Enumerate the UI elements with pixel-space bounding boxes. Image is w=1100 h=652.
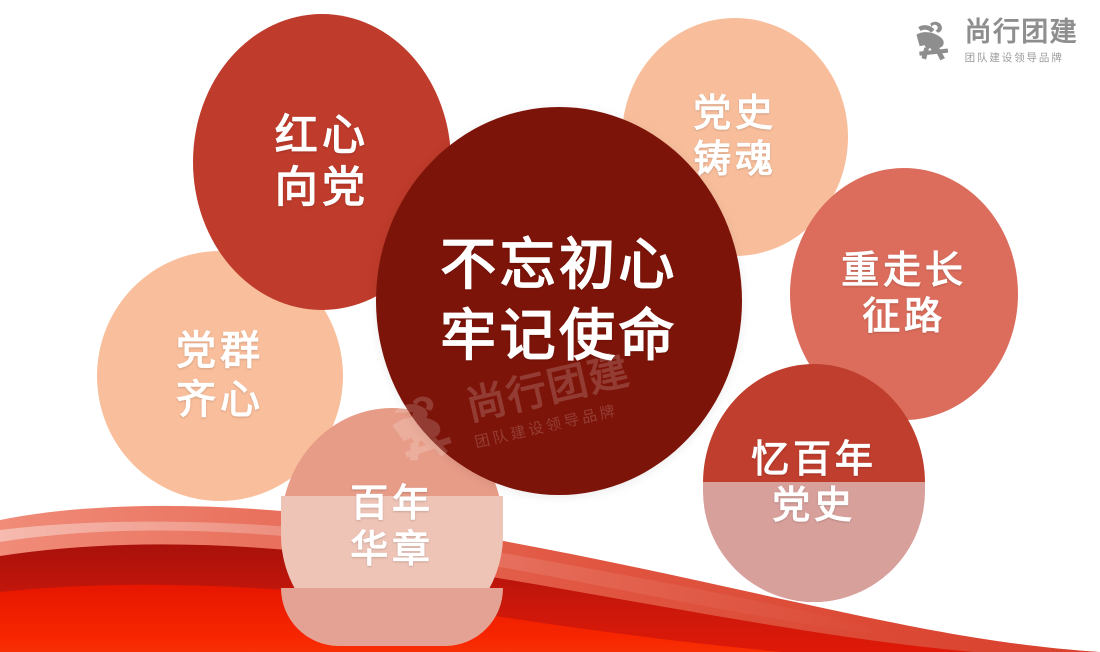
bubble-line: 党史 — [751, 483, 876, 529]
brand-logo: 尚行团建 团队建设领导品牌 — [910, 18, 1078, 65]
bubble-line: 齐心 — [176, 376, 264, 425]
bubble-yi-bainian-dangshi[interactable]: 忆百年 党史 — [703, 364, 925, 602]
brand-name: 尚行团建 — [965, 18, 1078, 46]
bubble-lower-tint-2 — [281, 588, 503, 646]
bubble-line: 百年 — [350, 481, 434, 527]
center-slogan-line: 不忘初心 — [440, 230, 677, 301]
poster-canvas: 红心 向党 党史 铸魂 重走长 征路 党群 齐心 忆百年 党史 — [0, 0, 1100, 652]
bubble-line: 铸魂 — [693, 137, 777, 183]
brand-tagline: 团队建设领导品牌 — [965, 50, 1078, 65]
bubble-line: 党史 — [693, 91, 777, 137]
bubble-line: 红心 — [275, 110, 370, 162]
bubble-line: 向党 — [275, 162, 370, 214]
bubble-line: 重走长 — [841, 248, 966, 294]
bubble-line: 忆百年 — [751, 437, 876, 483]
center-slogan-line: 牢记使命 — [440, 301, 677, 372]
bubble-center-slogan[interactable]: 不忘初心 牢记使命 — [376, 107, 742, 495]
shangxing-logo-icon — [910, 19, 956, 65]
bubble-line: 华章 — [350, 527, 434, 573]
red-wave-ribbon — [0, 472, 1100, 652]
bubble-line: 党群 — [176, 327, 264, 376]
bubble-line: 征路 — [841, 294, 966, 340]
